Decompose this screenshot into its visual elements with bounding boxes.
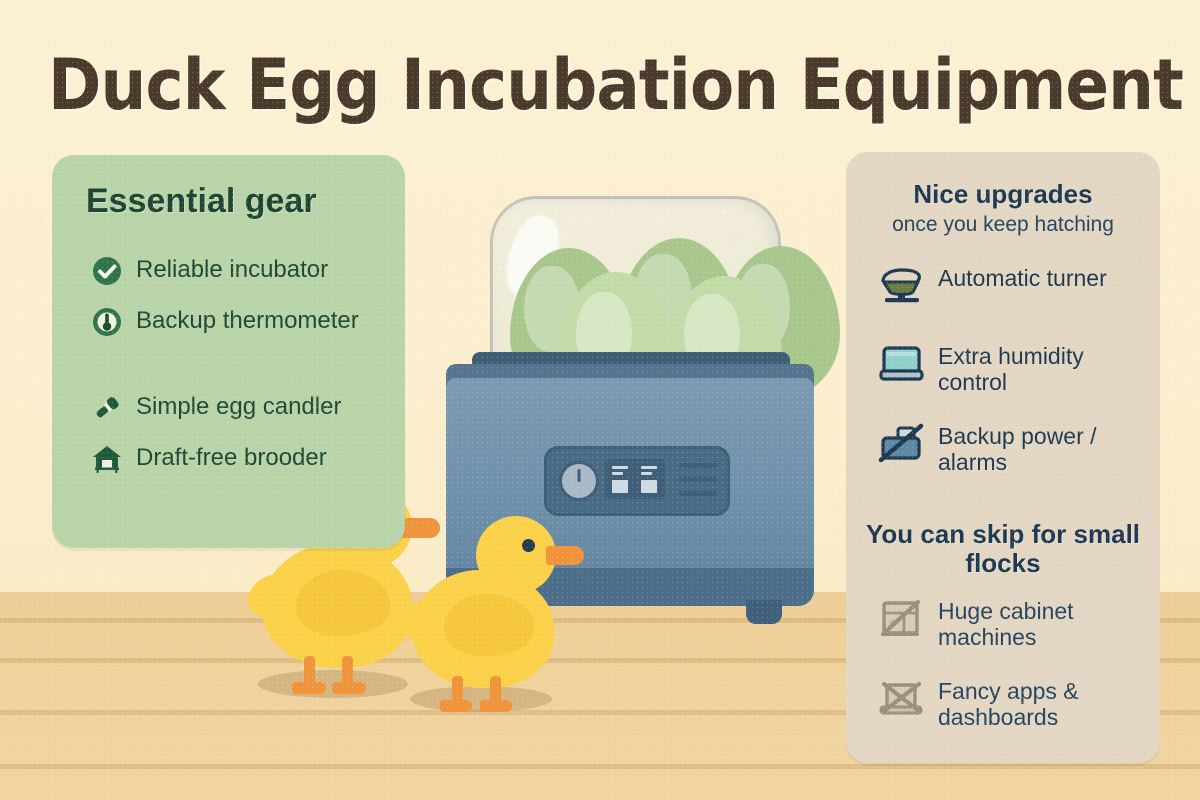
incubator-leg [746,600,782,624]
duckling-foot [440,700,472,712]
list-item-label: Fancy apps & dashboards [938,678,1148,730]
infographic-canvas: Duck Egg Incubation Equipment [0,0,1200,800]
list-item[interactable]: Fancy apps & dashboards [878,678,1148,730]
duckling-foot [332,682,366,694]
list-item-label: Huge cabinet machines [938,598,1148,650]
backup-power-icon [878,423,926,472]
brooder-house-icon [92,444,122,479]
nice-upgrades-subheading: once you keep hatching [846,213,1160,237]
vent-slot [679,463,717,468]
list-item-label: Draft-free brooder [136,444,327,471]
floor-plank [0,764,1200,769]
dashboard-app-crossed-icon [878,678,926,727]
egg-turner-icon [878,265,926,314]
list-item[interactable]: Simple egg candler [92,393,392,428]
list-item[interactable]: Automatic turner [878,265,1148,314]
list-item[interactable]: Draft-free brooder [92,444,392,479]
duckling-head [476,516,556,594]
check-circle-icon [92,256,122,291]
cabinet-machine-crossed-icon [878,598,926,647]
duckling-foot [292,682,326,694]
essential-gear-heading: Essential gear [86,182,386,221]
duckling-foot [480,700,512,712]
humidity-reservoir-icon [878,343,926,392]
list-item[interactable]: Backup power / alarms [878,423,1148,475]
egg-candler-icon [92,393,122,428]
duckling-wing [444,594,534,656]
list-item-label: Backup thermometer [136,307,359,334]
duckling-right [400,508,610,718]
list-item[interactable]: Reliable incubator [92,256,392,291]
temperature-humidity-display [605,459,665,499]
skip-heading: You can skip for small flocks [846,520,1160,577]
thermometer-circle-icon [92,307,122,342]
list-item-label: Simple egg candler [136,393,341,420]
power-icon[interactable] [559,461,599,501]
list-item-label: Automatic turner [938,265,1107,291]
list-item-label: Backup power / alarms [938,423,1148,475]
duckling-beak-icon [546,546,584,565]
page-title: Duck Egg Incubation Equipment [48,44,1152,126]
vent-slot [679,491,717,496]
duckling-eye [522,539,535,552]
list-item-label: Extra humidity control [938,343,1148,395]
list-item-label: Reliable incubator [136,256,328,283]
duckling-wing [296,570,390,636]
nice-upgrades-heading: Nice upgrades [846,180,1160,209]
control-panel[interactable] [544,446,730,516]
list-item[interactable]: Extra humidity control [878,343,1148,395]
list-item[interactable]: Huge cabinet machines [878,598,1148,650]
list-item[interactable]: Backup thermometer [92,307,392,342]
vent-slot [679,477,717,482]
